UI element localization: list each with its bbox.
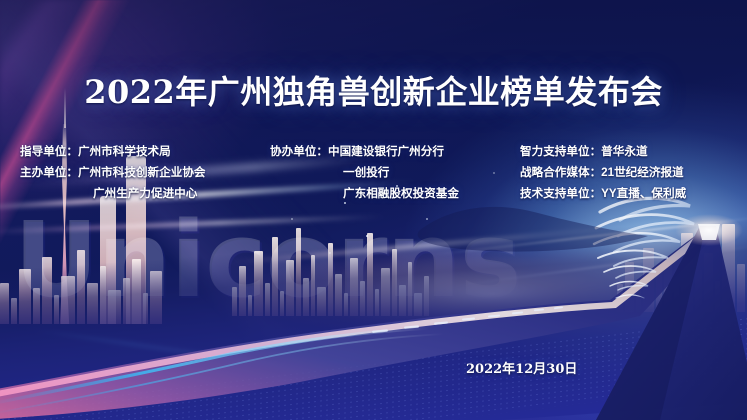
credit-row: 技术支持单位：YY直播、保利威 [520,183,686,204]
credit-value: 普华永道 [601,141,647,162]
credit-value: 广州市科技创新企业协会 [78,162,206,183]
credit-row: 协办单位：中国建设银行广州分行 [270,141,459,162]
credit-row: 智力支持单位：普华永道 [520,141,686,162]
credit-row: 广东相融股权投资基金 [270,183,459,204]
credit-label: 指导单位： [20,141,78,162]
credit-value: 广东相融股权投资基金 [343,183,459,204]
credit-label: 主办单位： [20,162,78,183]
credits-column-guidance-organizer: 指导单位：广州市科学技术局主办单位：广州市科技创新企业协会广州生产力促进中心 [20,141,206,204]
credit-label: 协办单位： [270,141,328,162]
credits-column-co-organizers: 协办单位：中国建设银行广州分行一创投行广东相融股权投资基金 [270,141,459,204]
poster-canvas: Unicorns Unicorns [0,0,747,420]
event-date: 2022年12月30日 [466,358,577,377]
credit-row: 指导单位：广州市科学技术局 [20,141,206,162]
credit-row: 一创投行 [270,162,459,183]
credit-row: 战略合作媒体：21世纪经济报道 [520,162,686,183]
credit-row: 主办单位：广州市科技创新企业协会 [20,162,206,183]
page-title: 2022年广州独角兽创新企业榜单发布会 [0,67,747,113]
credit-value: 广州市科学技术局 [78,141,171,162]
credits-column-support-media: 智力支持单位：普华永道战略合作媒体：21世纪经济报道技术支持单位：YY直播、保利… [520,141,686,204]
credit-value: 一创投行 [343,162,389,183]
credit-label: 技术支持单位： [520,183,601,204]
credit-label: 战略合作媒体： [520,162,601,183]
credit-row: 广州生产力促进中心 [20,183,206,204]
credit-value: YY直播、保利威 [601,183,686,204]
credit-value: 21世纪经济报道 [601,162,683,183]
credits-block: 指导单位：广州市科学技术局主办单位：广州市科技创新企业协会广州生产力促进中心 协… [0,141,747,213]
poster-content: 2022年广州独角兽创新企业榜单发布会 指导单位：广州市科学技术局主办单位：广州… [0,0,747,420]
credit-label: 智力支持单位： [520,141,601,162]
credit-value: 广州生产力促进中心 [93,183,197,204]
credit-value: 中国建设银行广州分行 [328,141,444,162]
